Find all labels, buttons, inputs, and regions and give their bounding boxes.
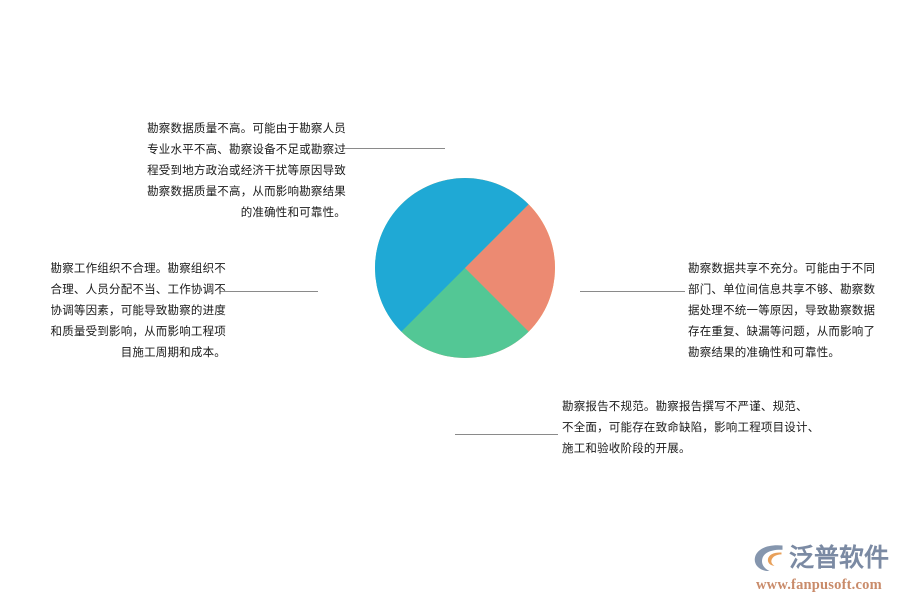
- note-line: 不全面，可能存在致命缺陷，影响工程项目设计、: [562, 417, 862, 438]
- logo-brand-row: 泛普软件: [752, 540, 900, 576]
- note-line: 勘察数据共享不充分。可能由于不同: [688, 258, 896, 279]
- note-block-work-organization: 勘察工作组织不合理。勘察组织不 合理、人员分配不当、工作协调不 协调等因素，可能…: [14, 258, 226, 363]
- note-line: 勘察工作组织不合理。勘察组织不: [14, 258, 226, 279]
- fanpu-logo: 泛普软件 www.fanpusoft.com: [752, 540, 900, 596]
- note-line: 勘察数据质量不高，从而影响勘察结果: [118, 181, 346, 202]
- note-block-data-quality: 勘察数据质量不高。可能由于勘察人员 专业水平不高、勘察设备不足或勘察过 程受到地…: [118, 118, 346, 223]
- connector-line-quality: [342, 148, 445, 149]
- note-block-data-sharing: 勘察数据共享不充分。可能由于不同 部门、单位间信息共享不够、勘察数 据处理不统一…: [688, 258, 896, 363]
- note-line: 部门、单位间信息共享不够、勘察数: [688, 279, 896, 300]
- note-line: 程受到地方政治或经济干扰等原因导致: [118, 160, 346, 181]
- note-line: 合理、人员分配不当、工作协调不: [14, 279, 226, 300]
- note-line: 目施工周期和成本。: [14, 342, 226, 363]
- infographic-canvas: 勘察数据质量不高。可能由于勘察人员 专业水平不高、勘察设备不足或勘察过 程受到地…: [0, 0, 900, 600]
- note-line: 施工和验收阶段的开展。: [562, 438, 862, 459]
- note-line: 协调等因素，可能导致勘察的进度: [14, 300, 226, 321]
- note-line: 专业水平不高、勘察设备不足或勘察过: [118, 139, 346, 160]
- note-block-survey-report: 勘察报告不规范。勘察报告撰写不严谨、规范、 不全面，可能存在致命缺陷，影响工程项…: [562, 396, 862, 459]
- connector-line-organization: [220, 291, 318, 292]
- fanpu-swoosh-logo-icon: [752, 543, 786, 573]
- logo-brand-text: 泛普软件: [789, 543, 889, 573]
- note-line: 据处理不统一等原因，导致勘察数据: [688, 300, 896, 321]
- logo-url-text: www.fanpusoft.com: [756, 577, 900, 594]
- connector-line-report: [455, 434, 558, 435]
- note-line: 勘察结果的准确性和可靠性。: [688, 342, 896, 363]
- note-line: 勘察数据质量不高。可能由于勘察人员: [118, 118, 346, 139]
- note-line: 和质量受到影响，从而影响工程项: [14, 321, 226, 342]
- note-line: 勘察报告不规范。勘察报告撰写不严谨、规范、: [562, 396, 862, 417]
- note-line: 存在重复、缺漏等问题，从而影响了: [688, 321, 896, 342]
- note-line: 的准确性和可靠性。: [118, 202, 346, 223]
- connector-line-sharing: [580, 291, 685, 292]
